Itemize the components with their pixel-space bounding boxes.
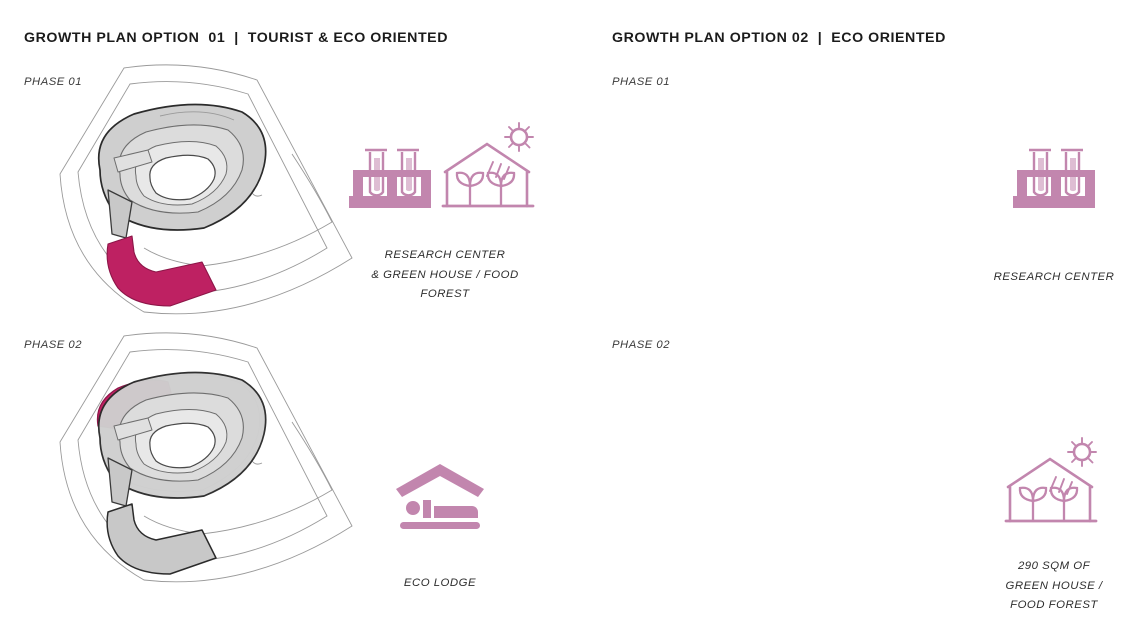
option-02-phase-02-caption: 290 SQM OF GREEN HOUSE / FOOD FOREST (964, 557, 1144, 616)
option-02-phase-02-label: PHASE 02 (612, 339, 670, 351)
greenhouse-icon (1002, 435, 1106, 535)
existing-massing (99, 372, 266, 506)
option-01-phase-01-caption: RESEARCH CENTER & GREEN HOUSE / FOOD FOR… (330, 246, 560, 305)
option-02-title: GROWTH PLAN OPTION 02 | ECO ORIENTED (612, 30, 946, 46)
test-tube-rack-icon (347, 128, 433, 220)
option-02-phase-02-program: 290 SQM OF GREEN HOUSE / FOOD FOREST (964, 425, 1144, 616)
presentation-board: GROWTH PLAN OPTION 01 | TOURIST & ECO OR… (0, 0, 1144, 633)
test-tube-rack-icon (1011, 128, 1097, 220)
existing-massing (99, 104, 266, 238)
greenhouse-icon (439, 120, 543, 220)
eco-lodge-icon (392, 456, 488, 540)
growth-plan-option-01-column: GROWTH PLAN OPTION 01 | TOURIST & ECO OR… (0, 0, 572, 633)
option-01-title: GROWTH PLAN OPTION 01 | TOURIST & ECO OR… (24, 30, 448, 46)
option-01-phase-02-program: ECO LODGE (340, 430, 540, 594)
option-01-phase-02-caption: ECO LODGE (340, 574, 540, 594)
option-01-phase-01-program: RESEARCH CENTER & GREEN HOUSE / FOOD FOR… (330, 110, 560, 305)
option-02-phase-01-program: RESEARCH CENTER (970, 110, 1138, 288)
highlighted-new-building (107, 236, 216, 306)
option-02-phase-01-label: PHASE 01 (612, 76, 670, 88)
growth-plan-option-02-column: GROWTH PLAN OPTION 02 | ECO ORIENTED PHA… (572, 0, 1144, 633)
built-phase-01-building (107, 504, 216, 574)
option-01-phase-02-site-plan (52, 330, 382, 595)
option-02-phase-01-caption: RESEARCH CENTER (970, 268, 1138, 288)
